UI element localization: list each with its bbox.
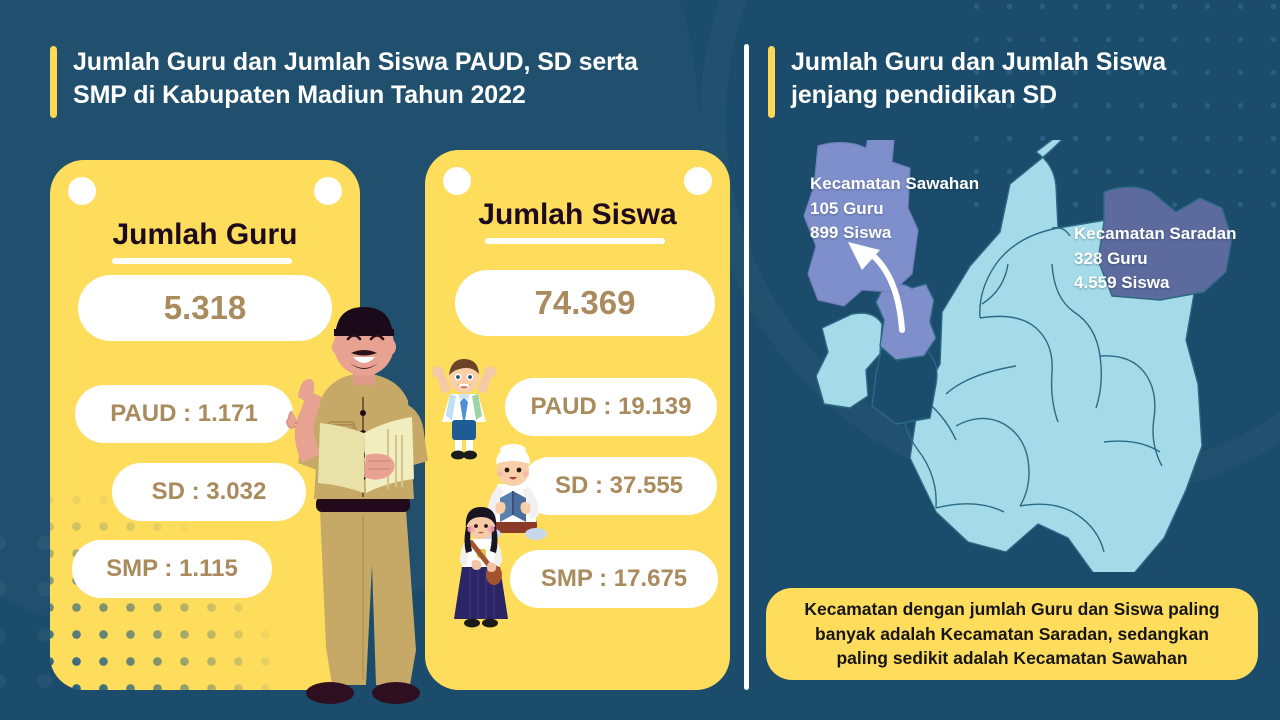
left-heading-text: Jumlah Guru dan Jumlah Siswa PAUD, SD se… bbox=[73, 46, 638, 113]
student-smp-illustration-icon bbox=[448, 505, 514, 633]
heading-accent-bar bbox=[50, 46, 57, 118]
heading-accent-bar bbox=[768, 46, 775, 118]
punch-hole-left bbox=[68, 177, 96, 205]
card-guru-row-paud: PAUD : 1.171 bbox=[75, 385, 293, 443]
card-siswa-row-smp: SMP : 17.675 bbox=[510, 550, 718, 608]
map-callout-sawahan: Kecamatan Sawahan 105 Guru 899 Siswa bbox=[810, 172, 979, 246]
map-callout-saradan: Kecamatan Saradan 328 Guru 4.559 Siswa bbox=[1074, 222, 1237, 296]
card-guru-row-smp: SMP : 1.115 bbox=[72, 540, 272, 598]
punch-hole-right bbox=[684, 167, 712, 195]
right-heading-text: Jumlah Guru dan Jumlah Siswa jenjang pen… bbox=[791, 46, 1166, 113]
card-siswa-underline bbox=[485, 238, 665, 244]
map-footnote-text: Kecamatan dengan jumlah Guru dan Siswa p… bbox=[804, 597, 1219, 672]
punch-hole-right bbox=[314, 177, 342, 205]
card-siswa-row-paud: PAUD : 19.139 bbox=[505, 378, 717, 436]
panel-divider bbox=[744, 44, 749, 690]
card-siswa-total-value: 74.369 bbox=[455, 270, 715, 336]
card-guru-title: Jumlah Guru bbox=[50, 218, 360, 252]
punch-hole-left bbox=[443, 167, 471, 195]
map-footnote-card: Kecamatan dengan jumlah Guru dan Siswa p… bbox=[766, 588, 1258, 680]
left-panel-heading: Jumlah Guru dan Jumlah Siswa PAUD, SD se… bbox=[50, 46, 638, 118]
card-guru-underline bbox=[112, 258, 292, 264]
card-siswa-title: Jumlah Siswa bbox=[425, 198, 730, 232]
right-panel-heading: Jumlah Guru dan Jumlah Siswa jenjang pen… bbox=[768, 46, 1166, 118]
